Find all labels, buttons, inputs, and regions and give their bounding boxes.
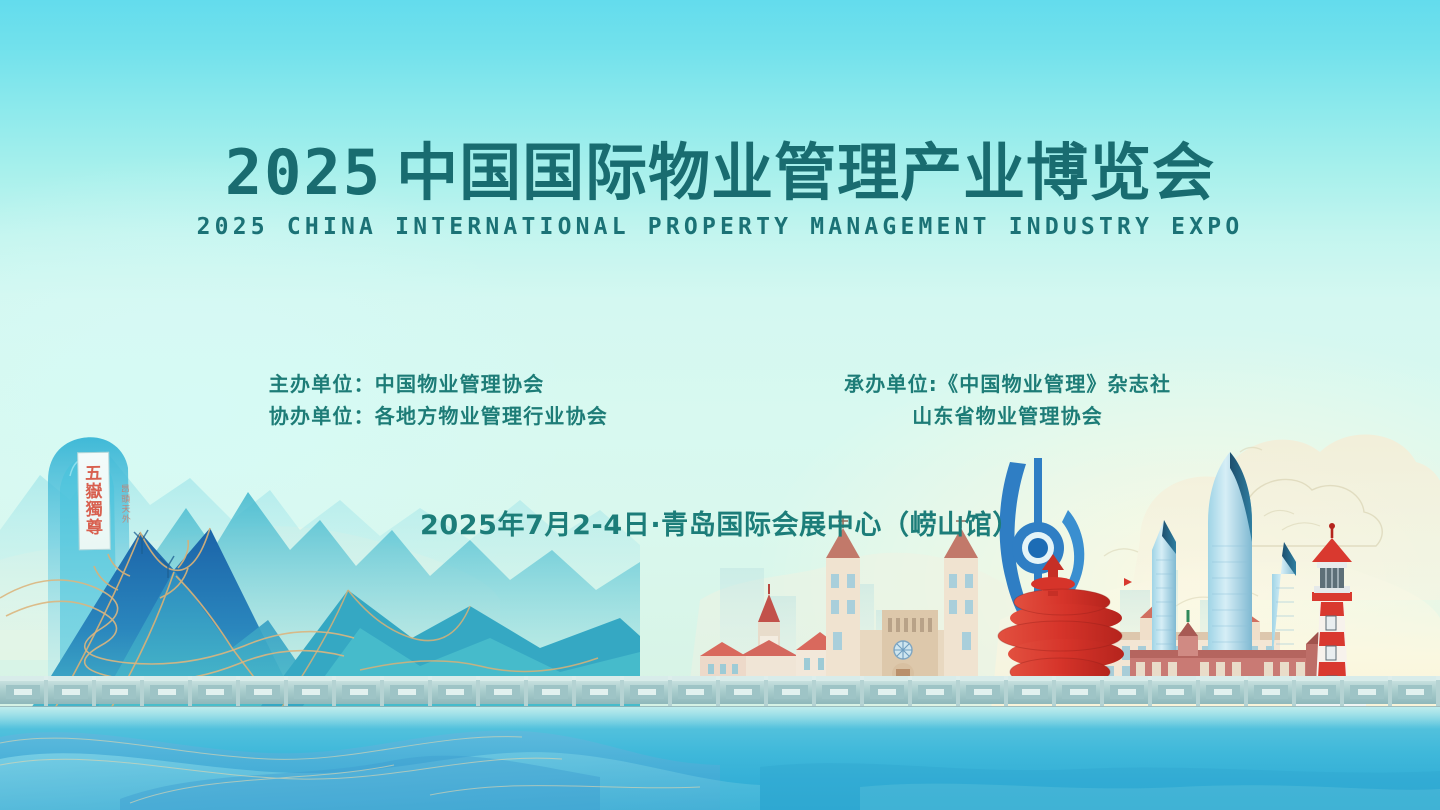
undertaker-unit-line-2: 山东省物业管理协会 [844, 400, 1171, 432]
title-block: 2025中国国际物业管理产业博览会 2025 CHINA INTERNATION… [0, 140, 1440, 240]
organizers-right: 承办单位:《中国物业管理》杂志社 山东省物业管理协会 [844, 368, 1171, 433]
ocean-water [0, 707, 1440, 810]
qingdao-twin-towers [1152, 452, 1296, 664]
stone-balustrade [0, 676, 1440, 710]
tablet-char-2: 嶽 [85, 483, 102, 500]
tablet-char-1: 五 [85, 465, 102, 482]
expo-poster: 五 嶽 獨 尊 昂頭天外 [0, 0, 1440, 810]
co-host-unit-line: 协办单位：各地方物业管理行业协会 [269, 400, 608, 432]
title-year: 2025 [225, 136, 382, 209]
page-title: 2025中国国际物业管理产业博览会 [0, 140, 1440, 207]
water-reflection [0, 707, 1440, 729]
organizers-left: 主办单位：中国物业管理协会 协办单位：各地方物业管理行业协会 [269, 368, 608, 433]
title-english: 2025 CHINA INTERNATIONAL PROPERTY MANAGE… [0, 214, 1440, 240]
title-chinese: 中国国际物业管理产业博览会 [396, 136, 1215, 209]
host-unit-line: 主办单位：中国物业管理协会 [269, 368, 608, 400]
venue-date-line: 2025年7月2-4日·青岛国际会展中心（崂山馆） [0, 503, 1440, 542]
organizers-section: 主办单位：中国物业管理协会 协办单位：各地方物业管理行业协会 承办单位:《中国物… [0, 368, 1440, 433]
undertaker-unit-line: 承办单位:《中国物业管理》杂志社 [844, 368, 1171, 400]
